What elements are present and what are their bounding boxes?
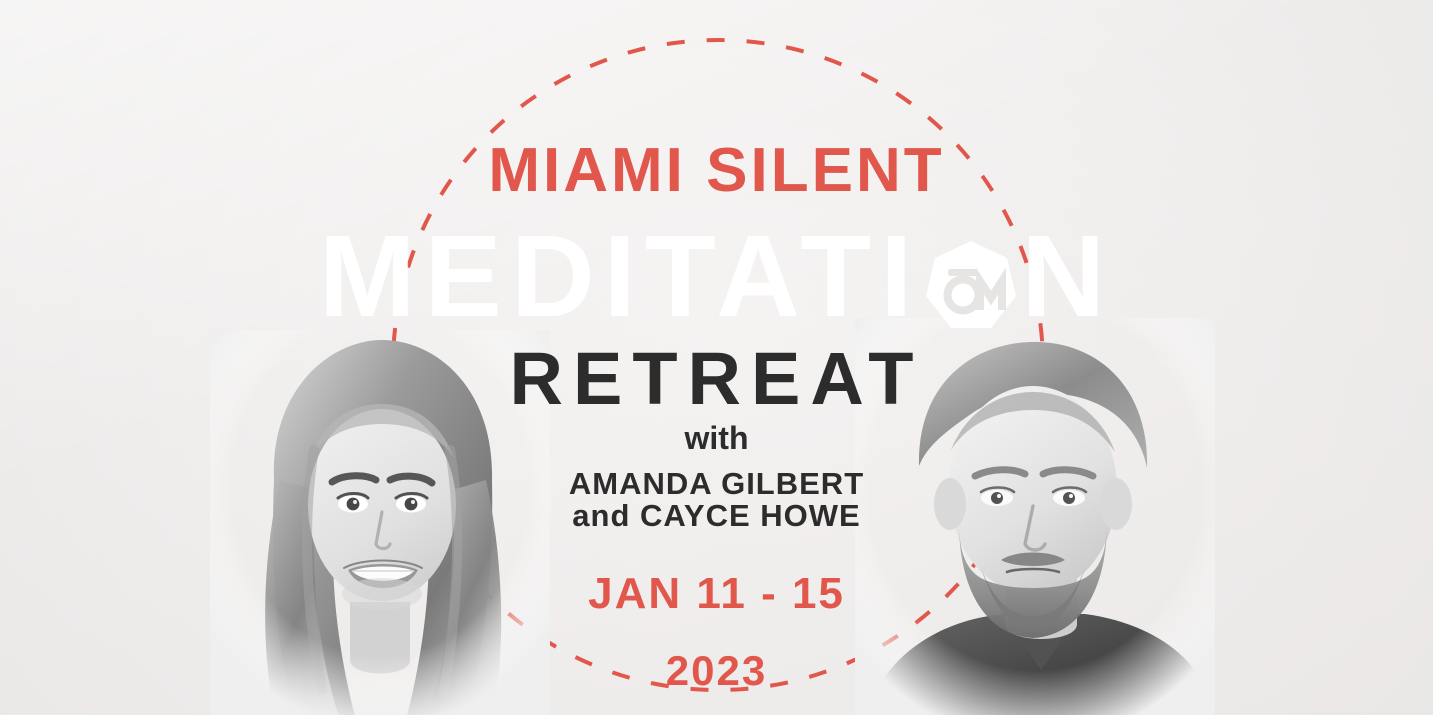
event-year: 2023	[0, 650, 1433, 692]
meditation-wordmark: MEDITATIN	[0, 218, 1433, 334]
with-label: with	[0, 422, 1433, 454]
om-logo-mark	[923, 238, 1019, 334]
meditation-text-part-1: MEDITATI	[319, 211, 922, 341]
presenter-name-cayce-howe: and CAYCE HOWE	[0, 500, 1433, 531]
kicker-miami-silent: MIAMI SILENT	[0, 140, 1433, 202]
subtitle-retreat: RETREAT	[0, 342, 1433, 416]
event-dates: JAN 11 - 15	[0, 572, 1433, 616]
meditation-text-part-2: N	[1021, 211, 1114, 341]
meditation-retreat-banner: MEDITATIN MIAMI SILENT RETREAT with AMAN…	[0, 0, 1433, 715]
presenter-name-amanda-gilbert: AMANDA GILBERT	[0, 468, 1433, 499]
